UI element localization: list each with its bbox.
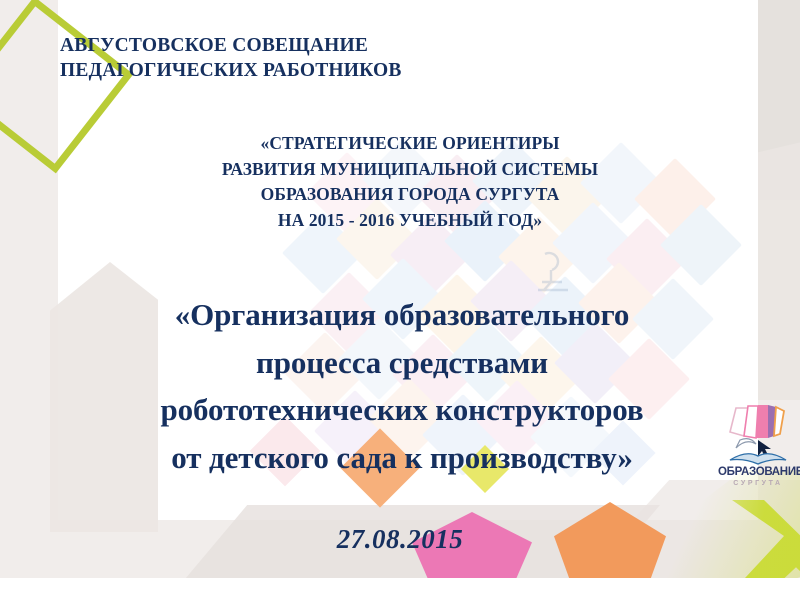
background-beige-wash <box>0 0 800 578</box>
logo-caption-sub: СУРГУТА <box>718 480 798 487</box>
page-title: «Организация образовательного процесса с… <box>52 291 752 482</box>
event-heading: АВГУСТОВСКОЕ СОВЕЩАНИЕ ПЕДАГОГИЧЕСКИХ РА… <box>60 33 580 84</box>
open-book-icon <box>718 392 798 466</box>
slide-date: 27.08.2015 <box>250 524 550 556</box>
decorative-olive-diamond-top-left <box>0 0 133 173</box>
presentation-slide: АВГУСТОВСКОЕ СОВЕЩАНИЕ ПЕДАГОГИЧЕСКИХ РА… <box>0 0 800 600</box>
background-bottom-strip <box>0 578 800 600</box>
organization-logo: ОБРАЗОВАНИЕ СУРГУТА <box>718 392 798 504</box>
theme-subtitle: «СТРАТЕГИЧЕСКИЕ ОРИЕНТИРЫ РАЗВИТИЯ МУНИЦ… <box>130 131 690 234</box>
decorative-lime-chevron-bottom-right <box>640 500 800 600</box>
accent-pentagon <box>554 502 666 592</box>
logo-caption-main: ОБРАЗОВАНИЕ <box>718 466 798 478</box>
